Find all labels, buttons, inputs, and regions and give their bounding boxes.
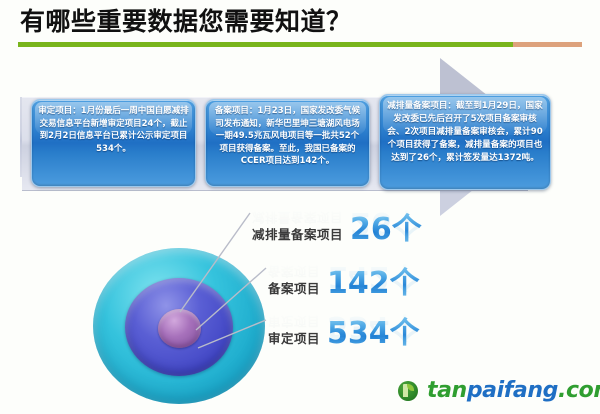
logo-wordmark: tanpaifang.com xyxy=(427,378,600,403)
callout-label: 备案项目 xyxy=(268,278,320,297)
info-box-text: 备案项目：1月23日，国家发改委气候司发布通知，新华巴里坤三塘湖风电场一期49.… xyxy=(212,105,363,168)
title-divider xyxy=(18,42,582,47)
page-title: 有哪些重要数据您需要知道？ xyxy=(20,6,352,38)
site-logo[interactable]: tanpaifang.com xyxy=(398,378,600,403)
callout-unit: 个 xyxy=(390,258,420,302)
slide-canvas: 有哪些重要数据您需要知道？ 审定项目：1月份最后一周中国自愿减排交易信息平台新增… xyxy=(0,0,600,414)
info-box-text: 审定项目：1月份最后一周中国自愿减排交易信息平台新增审定项目24个，截止到2月2… xyxy=(38,105,189,155)
callout-unit: 个 xyxy=(390,308,420,352)
callout-value: 534 xyxy=(327,316,390,351)
info-box-beian[interactable]: 备案项目：1月23日，国家发改委气候司发布通知，新华巴里坤三塘湖风电场一期49.… xyxy=(205,99,370,187)
callout-unit: 个 xyxy=(392,204,422,248)
info-box-text: 减排量备案项目：截至到1月29日，国家发改委已先后召开了5次项目备案审核会、2次… xyxy=(386,100,544,165)
info-box-jianpailiang[interactable]: 减排量备案项目：截至到1月29日，国家发改委已先后召开了5次项目备案审核会、2次… xyxy=(379,94,551,190)
divider-green-segment xyxy=(18,42,513,47)
callout-jianpailiang: 减排量备案项目26个 减排量备案项目26个 xyxy=(252,204,422,248)
divider-orange-segment xyxy=(513,42,582,47)
target-ring-core xyxy=(158,309,201,348)
logo-part-tan: tan xyxy=(427,378,467,403)
logo-part-com: .com xyxy=(558,378,600,403)
callout-value: 142 xyxy=(327,266,390,301)
callout-label: 减排量备案项目 xyxy=(252,224,343,243)
concentric-target-graphic xyxy=(93,248,265,404)
callout-label: 审定项目 xyxy=(268,328,320,347)
leaf-logo-icon xyxy=(398,381,418,401)
callout-value: 26 xyxy=(350,212,392,247)
callout-beian: 备案项目142个 备案项目142个 xyxy=(268,258,420,302)
logo-part-paifang: paifang xyxy=(467,378,558,403)
info-box-shending[interactable]: 审定项目：1月份最后一周中国自愿减排交易信息平台新增审定项目24个，截止到2月2… xyxy=(31,99,196,187)
callout-shending: 审定项目534个 审定项目534个 xyxy=(268,308,420,352)
